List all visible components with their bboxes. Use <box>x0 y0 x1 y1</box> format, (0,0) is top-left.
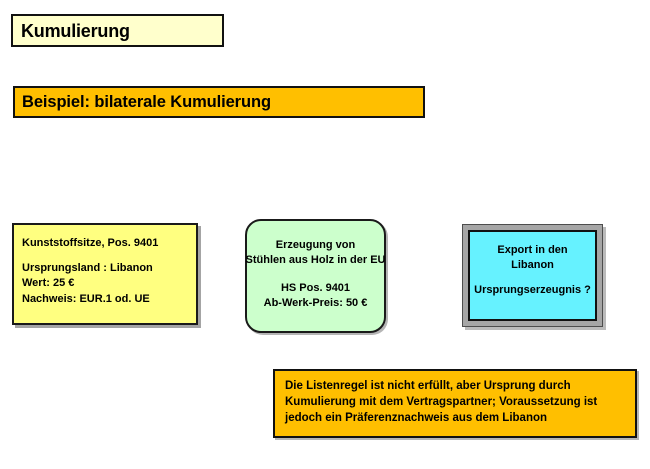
input-material-line-1: Kunststoffsitze, Pos. 9401 <box>22 237 158 249</box>
input-material-box: Kunststoffsitze, Pos. 9401 Ursprungsland… <box>12 223 198 325</box>
input-material-text: Kunststoffsitze, Pos. 9401 Ursprungsland… <box>22 236 192 307</box>
input-material-line-3: Wert: 25 € <box>22 277 74 289</box>
example-banner-box: Beispiel: bilaterale Kumulierung <box>13 86 425 118</box>
spacer <box>466 273 599 283</box>
page-title: Kumulierung <box>13 22 130 40</box>
production-box: Erzeugung von Stühlen aus Holz in der EU… <box>245 219 386 333</box>
example-banner-label: Beispiel: bilaterale Kumulierung <box>15 94 271 111</box>
production-text: Erzeugung von Stühlen aus Holz in der EU… <box>241 238 390 311</box>
input-material-line-4: Nachweis: EUR.1 od. UE <box>22 293 150 305</box>
production-line-2: Stühlen aus Holz in der EU <box>246 254 386 266</box>
conclusion-line-1: Die Listenregel ist nicht erfüllt, aber … <box>285 380 571 392</box>
conclusion-line-2: Kumulierung mit dem Vertragspartner; Vor… <box>285 396 597 408</box>
export-line-3: Ursprungserzeugnis ? <box>474 284 591 296</box>
slide-canvas: Kumulierung Beispiel: bilaterale Kumulie… <box>0 0 650 469</box>
slide-title-box: Kumulierung <box>11 14 224 47</box>
input-material-line-2: Ursprungsland : Libanon <box>22 262 153 274</box>
export-box: Export in den Libanon Ursprungserzeugnis… <box>468 230 597 321</box>
export-box-frame: Export in den Libanon Ursprungserzeugnis… <box>462 224 603 327</box>
conclusion-line-3: jedoch ein Präferenznachweis aus dem Lib… <box>285 412 547 424</box>
export-line-2: Libanon <box>511 259 554 271</box>
conclusion-note-text: Die Listenregel ist nicht erfüllt, aber … <box>285 378 627 426</box>
conclusion-note-box: Die Listenregel ist nicht erfüllt, aber … <box>273 369 637 438</box>
export-line-1: Export in den <box>497 244 567 256</box>
export-text: Export in den Libanon Ursprungserzeugnis… <box>466 243 599 298</box>
production-line-4: Ab-Werk-Preis: 50 € <box>264 297 368 309</box>
spacer <box>22 252 192 261</box>
spacer <box>241 268 390 281</box>
production-line-3: HS Pos. 9401 <box>281 282 350 294</box>
production-line-1: Erzeugung von <box>276 239 355 251</box>
